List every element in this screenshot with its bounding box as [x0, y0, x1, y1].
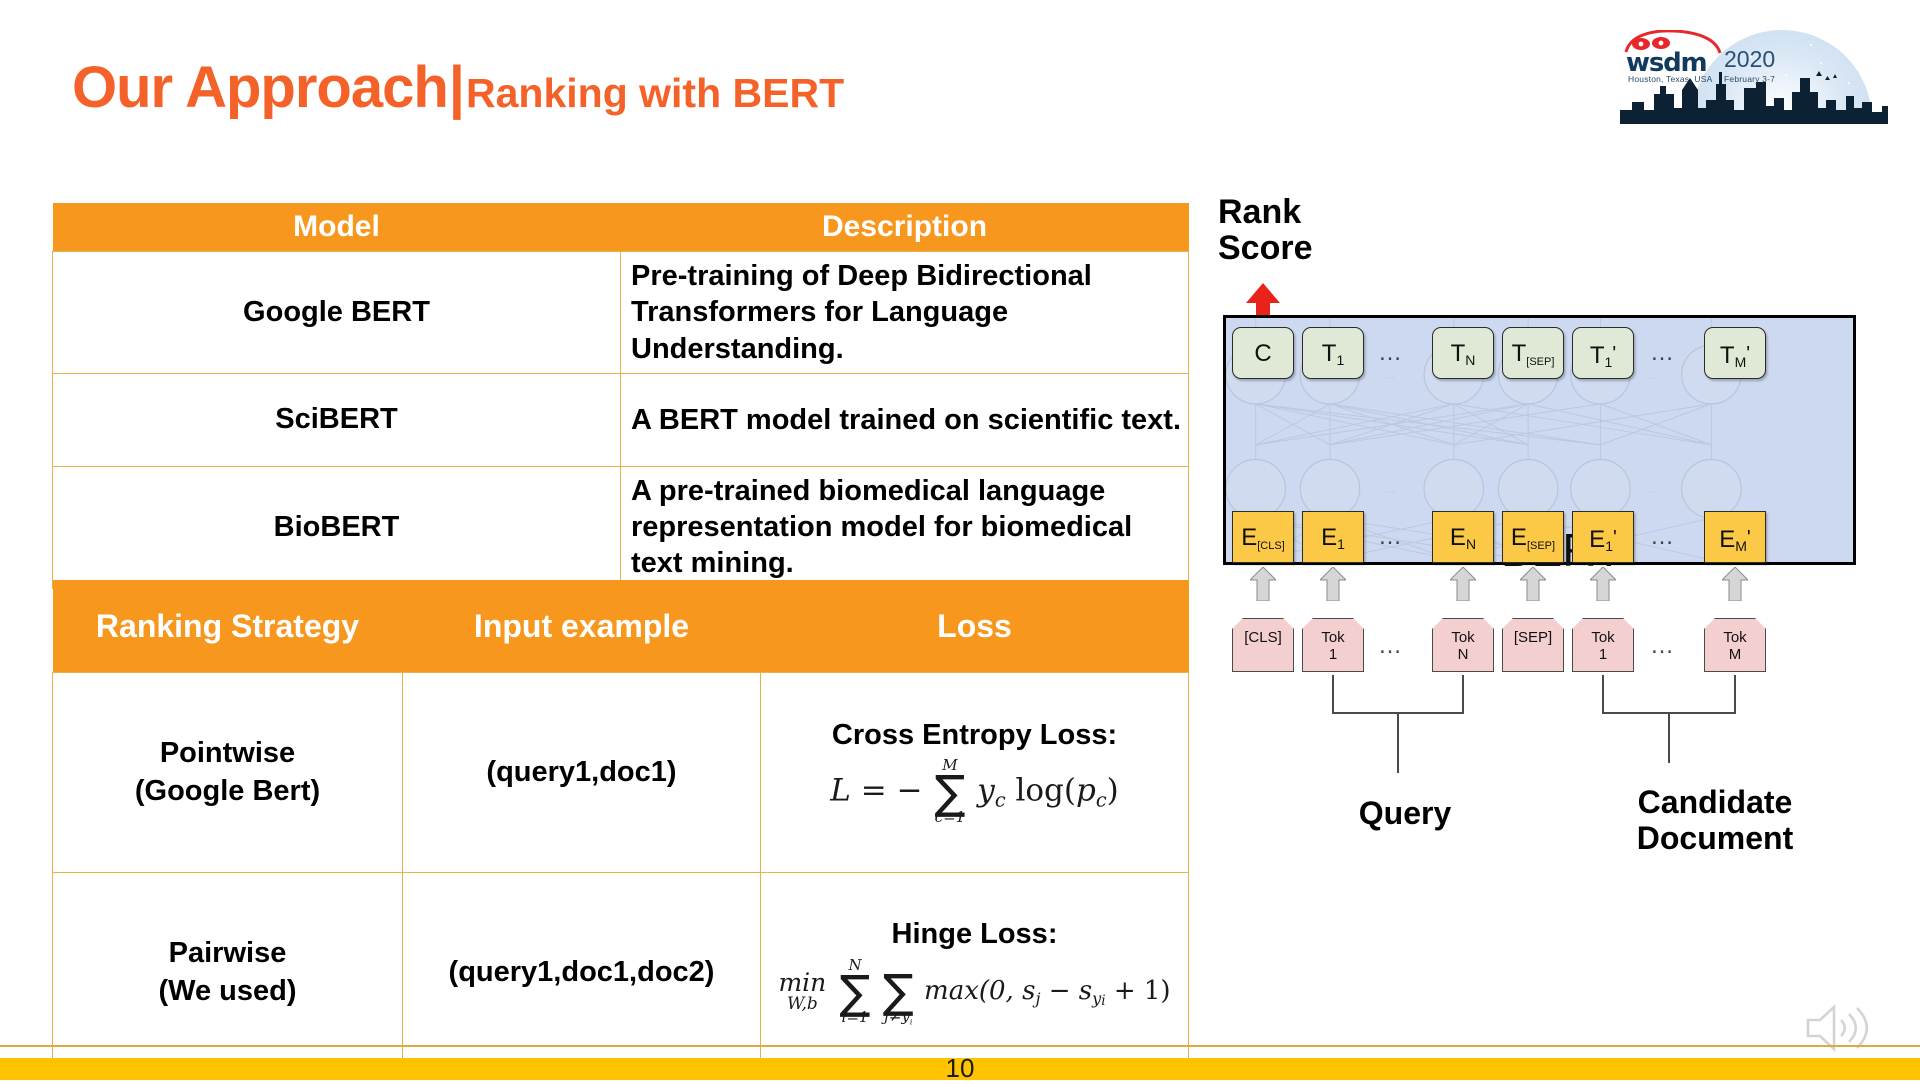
cell-loss: Hinge Loss: min W,b N ∑ i=1 ∑ j≠yi [761, 873, 1189, 1073]
embedding-row: E[CLS] E1 … EN E[SEP] E1' … EM' [1210, 511, 1870, 563]
candidate-label-line-1: Candidate [1600, 785, 1830, 821]
cross-entropy-formula: L = − M ∑ c=1 yc log(pc) [830, 758, 1118, 826]
cell-loss: Cross Entropy Loss: L = − M ∑ c=1 yc log… [761, 673, 1189, 873]
gray-up-arrow-icon [1450, 567, 1476, 601]
rank-score-line-2: Score [1218, 231, 1313, 267]
hinge-loss-formula: min W,b N ∑ i=1 ∑ j≠yi max(0, sj [778, 957, 1170, 1027]
candidate-label-line-2: Document [1600, 821, 1830, 857]
table-row: Google BERT Pre-training of Deep Bidirec… [53, 252, 1189, 374]
formula-minus: − [897, 772, 923, 808]
summation-operator: M ∑ c=1 [934, 758, 965, 826]
summation-operator-outer: N ∑ i=1 [840, 958, 871, 1026]
token-cell-tokm: TokM [1704, 618, 1766, 672]
formula-s-y-sub: y [1092, 989, 1101, 1008]
formula-lhs: L [830, 772, 851, 808]
column-header-input-example: Input example [403, 580, 761, 673]
embedding-cell-e1-prime: E1' [1572, 511, 1634, 563]
token-ellipsis: … [1642, 618, 1682, 674]
formula-minus: − [1049, 976, 1071, 1006]
bert-architecture-diagram: Rank Score [1210, 195, 1870, 995]
rank-score-label: Rank Score [1218, 195, 1313, 266]
output-cell-t1-prime: T1' [1572, 327, 1634, 379]
cell-model-name: BioBERT [53, 466, 621, 588]
output-cell-t1: T1 [1302, 327, 1364, 379]
formula-y: y [977, 772, 995, 808]
gray-up-arrow-icon [1590, 567, 1616, 601]
cell-strategy-name: Pairwise (We used) [53, 873, 403, 1073]
column-header-model: Model [53, 203, 621, 252]
output-cell-tn: TN [1432, 327, 1494, 379]
table-row: Pairwise (We used) (query1,doc1,doc2) Hi… [53, 873, 1189, 1073]
footer-divider [0, 1045, 1920, 1047]
token-cell-cls: [CLS] [1232, 618, 1294, 672]
cell-model-description: Pre-training of Deep Bidirectional Trans… [621, 252, 1189, 374]
cell-strategy-name: Pointwise (Google Bert) [53, 673, 403, 873]
formula-max: max(0, [924, 976, 1014, 1006]
min-label: min [778, 970, 826, 995]
embedding-cell-ecls: E[CLS] [1232, 511, 1294, 563]
sigma-icon: ∑ [934, 774, 965, 811]
cell-model-description: A BERT model trained on scientific text. [621, 373, 1189, 466]
sum-lower-limit: c=1 [935, 810, 966, 826]
output-cell-c: C [1232, 327, 1294, 379]
token-cell-sep: [SEP] [1502, 618, 1564, 672]
logo-year: 2020 [1724, 46, 1775, 73]
cell-input-example: (query1,doc1,doc2) [403, 873, 761, 1073]
token-cell-tokn: TokN [1432, 618, 1494, 672]
cell-input-example: (query1,doc1) [403, 673, 761, 873]
embedding-ellipsis: … [1370, 511, 1410, 563]
token-cell-tok1-doc: Tok1 [1572, 618, 1634, 672]
title-separator: | [449, 55, 465, 120]
gray-up-arrow-icon [1320, 567, 1346, 601]
output-cell-tm-prime: TM' [1704, 327, 1766, 379]
formula-plus-one: + 1) [1114, 976, 1171, 1006]
min-operator: min W,b [778, 970, 826, 1014]
page-number: 10 [0, 1053, 1920, 1084]
formula-p-sub: c [1096, 788, 1107, 811]
table-row: BioBERT A pre-trained biomedical languag… [53, 466, 1189, 588]
output-token-row: C T1 … TN T[SEP] T1' … TM' [1210, 327, 1870, 379]
loss-title: Hinge Loss: [765, 918, 1184, 951]
strategy-line-2: (Google Bert) [54, 773, 401, 811]
formula-s-y: s [1079, 976, 1092, 1006]
formula-s-j: s [1022, 976, 1035, 1006]
column-header-loss: Loss [761, 580, 1189, 673]
table-row: Pointwise (Google Bert) (query1,doc1) Cr… [53, 673, 1189, 873]
column-header-description: Description [621, 203, 1189, 252]
cell-model-name: SciBERT [53, 373, 621, 466]
embedding-cell-em-prime: EM' [1704, 511, 1766, 563]
sigma-icon: ∑ [883, 973, 914, 1010]
min-subscript: W,b [787, 995, 818, 1014]
wsdm-logo: wsdm 2020 Houston, Texas, USA February 3… [1620, 22, 1888, 130]
sum-lower-limit: i=1 [842, 1010, 869, 1026]
input-token-row: [CLS] Tok1 … TokN [SEP] Tok1 … TokM [1210, 618, 1870, 674]
formula-close-paren: ) [1107, 772, 1119, 808]
sum-lower-limit: j≠yi [884, 1009, 912, 1027]
speaker-icon[interactable] [1800, 1000, 1870, 1056]
gray-up-arrow-icon [1520, 567, 1546, 601]
sigma-icon: ∑ [840, 974, 871, 1011]
svg-text:...: ... [1384, 481, 1395, 496]
embedding-cell-e1: E1 [1302, 511, 1364, 563]
ranking-strategy-table: Ranking Strategy Input example Loss Poin… [52, 580, 1189, 1073]
table-header-row: Model Description [53, 203, 1189, 252]
output-cell-tsep: T[SEP] [1502, 327, 1564, 379]
logo-star-icon [1810, 44, 1812, 46]
query-group-label: Query [1325, 795, 1485, 832]
formula-equals: = [861, 772, 887, 808]
formula-p: p [1076, 772, 1096, 808]
table-header-row: Ranking Strategy Input example Loss [53, 580, 1189, 673]
formula-y-sub: c [995, 788, 1006, 811]
formula-s-j-sub: j [1035, 989, 1040, 1008]
loss-title: Cross Entropy Loss: [765, 719, 1184, 752]
svg-text:...: ... [1647, 481, 1658, 496]
page-title: Our Approach|Ranking with BERT [72, 54, 844, 121]
output-ellipsis: … [1642, 327, 1682, 379]
logo-location: Houston, Texas, USA [1628, 74, 1712, 84]
strategy-line-1: Pairwise [54, 935, 401, 973]
table-row: SciBERT A BERT model trained on scientif… [53, 373, 1189, 466]
embedding-cell-esep: E[SEP] [1502, 511, 1564, 563]
models-table: Model Description Google BERT Pre-traini… [52, 203, 1189, 589]
logo-dates: February 3-7 [1724, 74, 1775, 84]
embedding-ellipsis: … [1642, 511, 1682, 563]
output-ellipsis: … [1370, 327, 1410, 379]
embedding-cell-en: EN [1432, 511, 1494, 563]
token-cell-tok1: Tok1 [1302, 618, 1364, 672]
summation-operator-inner: ∑ j≠yi [883, 957, 914, 1027]
strategy-line-1: Pointwise [54, 735, 401, 773]
title-main-text: Our Approach [72, 55, 448, 120]
strategy-line-2: (We used) [54, 973, 401, 1011]
cell-model-name: Google BERT [53, 252, 621, 374]
gray-up-arrow-icon [1722, 567, 1748, 601]
title-subtitle-text: Ranking with BERT [466, 70, 844, 116]
token-ellipsis: … [1370, 618, 1410, 674]
rank-score-line-1: Rank [1218, 195, 1313, 231]
formula-s-y-sub2: i [1101, 993, 1105, 1009]
cell-model-description: A pre-trained biomedical language repres… [621, 466, 1189, 588]
candidate-document-group-label: Candidate Document [1600, 785, 1830, 857]
column-header-ranking-strategy: Ranking Strategy [53, 580, 403, 673]
gray-up-arrow-icon [1250, 567, 1276, 601]
formula-log: log( [1015, 772, 1076, 808]
